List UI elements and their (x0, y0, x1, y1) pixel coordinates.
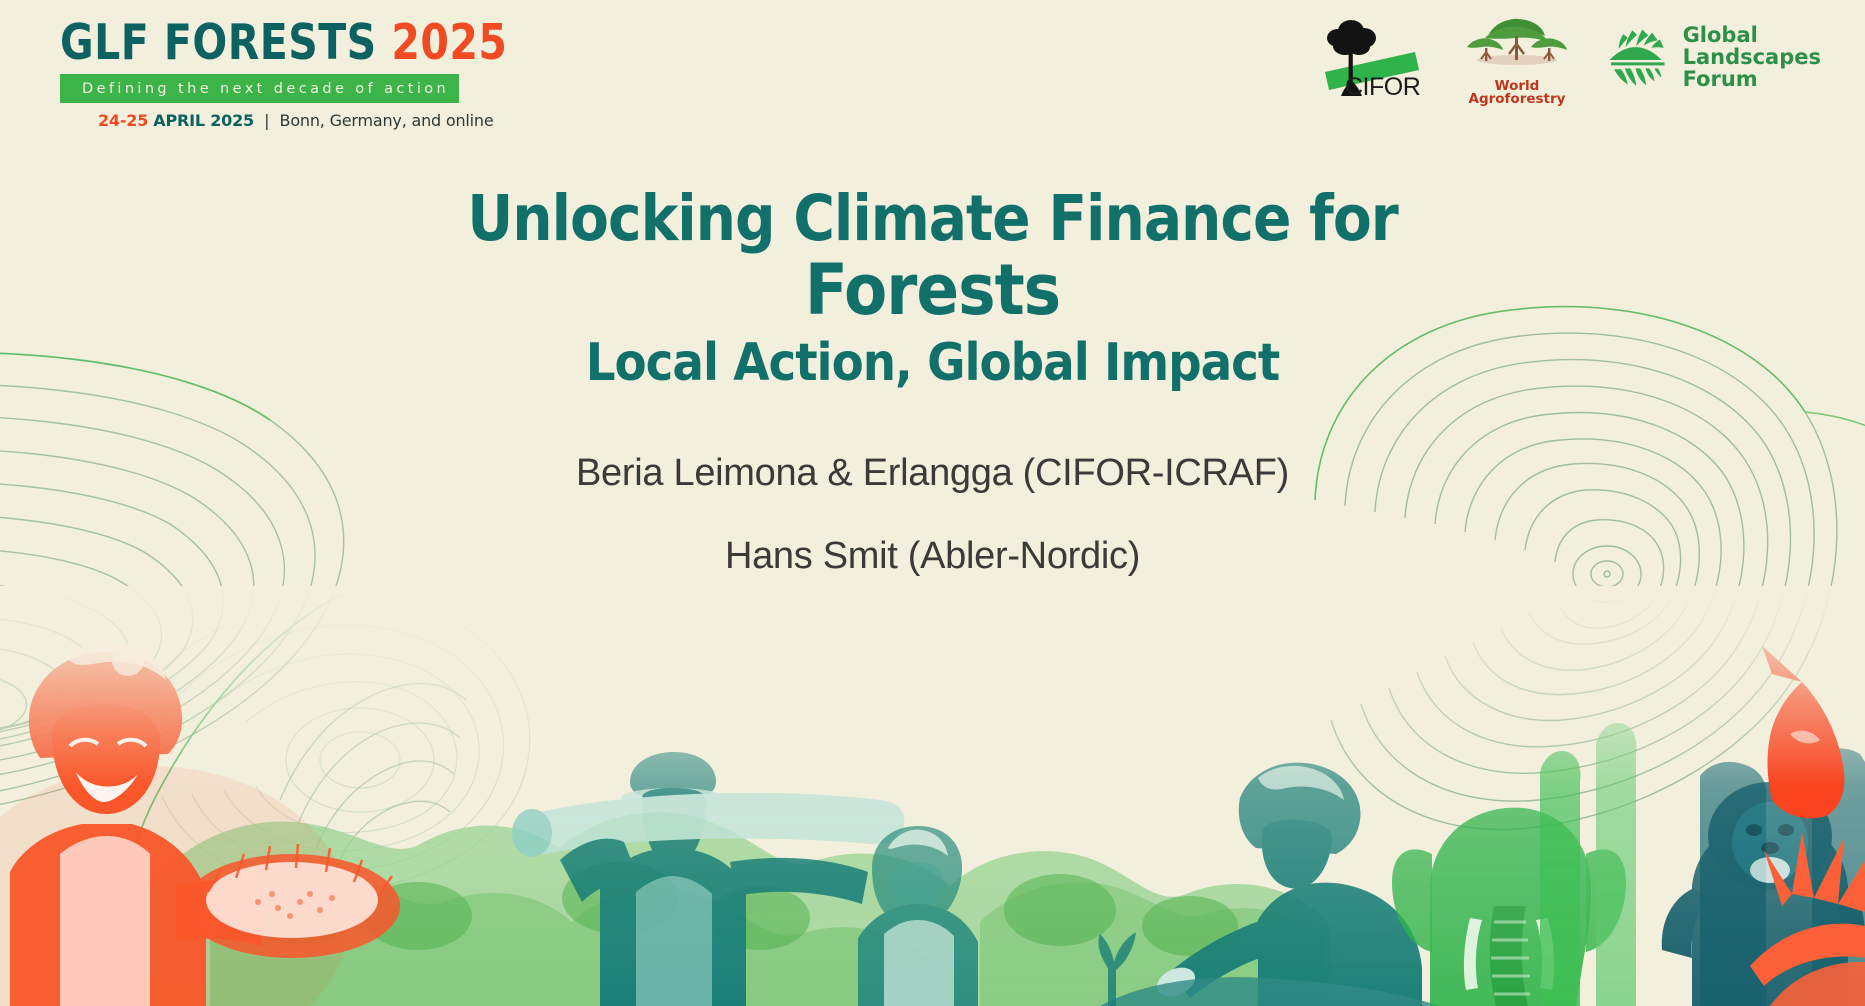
cifor-label: CIFOR (1345, 75, 1420, 100)
person-planting-seedling-photo (1098, 763, 1440, 1006)
author-line-2: Hans Smit (Abler-Nordic) (0, 535, 1865, 578)
event-month-year: APRIL 2025 (153, 111, 254, 130)
glf-tagline-text: Defining the next decade of action (82, 81, 449, 97)
global-landscapes-forum-label: Global Landscapes Forum (1683, 24, 1821, 90)
title-line-2: Forests (0, 254, 1865, 327)
bird-of-paradise-flower-icon (1750, 832, 1865, 1006)
topographic-contour-center-decoration (160, 560, 580, 900)
glf-wordmark-year: 2025 (391, 14, 507, 71)
kingfisher-bird-icon (1762, 646, 1844, 818)
landscape-leaves-icon (1605, 15, 1671, 99)
collage-artwork (0, 586, 1865, 1006)
global-landscapes-forum-logo: Global Landscapes Forum (1605, 14, 1821, 100)
glf-date-location-line: 24-25 APRIL 2025 | Bonn, Germany, and on… (60, 111, 480, 130)
event-location: Bonn, Germany, and online (280, 111, 494, 130)
presentation-slide: GLF FORESTS 2025 Defining the next decad… (0, 0, 1865, 1006)
event-date: 24-25 (98, 111, 148, 130)
glf-label-line-3: Forum (1683, 68, 1821, 90)
glf-forests-event-logo: GLF FORESTS 2025 Defining the next decad… (60, 18, 480, 130)
world-agroforestry-label-line-2: Agroforestry (1465, 93, 1569, 106)
title-line-1: Unlocking Climate Finance for (0, 186, 1865, 252)
cifor-logo: CIFOR (1311, 14, 1429, 102)
orangutan-photo (1662, 782, 1865, 1006)
elephant-photo (1392, 808, 1626, 1006)
tree-canopy-photo (150, 812, 1330, 1006)
world-agroforestry-logo: World Agroforestry (1465, 14, 1569, 106)
woman-with-basket-photo (0, 642, 400, 1006)
slide-title-block: Unlocking Climate Finance for Forests Lo… (0, 186, 1865, 390)
dateline-separator: | (259, 111, 274, 130)
author-block: Beria Leimona & Erlangga (CIFOR-ICRAF) H… (0, 452, 1865, 578)
partner-logo-group: CIFOR (1311, 14, 1821, 106)
title-subtitle: Local Action, Global Impact (0, 336, 1865, 390)
tree-stumps-photo (1540, 723, 1865, 1006)
man-carrying-log-photo (512, 752, 904, 1006)
glf-wordmark-primary: GLF FORESTS (60, 14, 377, 71)
photo-collage-band (0, 586, 1865, 1006)
slide-header: GLF FORESTS 2025 Defining the next decad… (0, 0, 1865, 160)
glf-label-line-1: Global (1683, 24, 1821, 46)
glf-label-line-2: Landscapes (1683, 46, 1821, 68)
woman-with-headscarf-photo (858, 826, 978, 1006)
glf-tagline-bar: Defining the next decade of action (60, 74, 459, 103)
author-line-1: Beria Leimona & Erlangga (CIFOR-ICRAF) (0, 452, 1865, 495)
world-agroforestry-label: World Agroforestry (1465, 80, 1569, 106)
collage-top-fade (0, 586, 1865, 1006)
glf-wordmark: GLF FORESTS 2025 (60, 18, 451, 67)
